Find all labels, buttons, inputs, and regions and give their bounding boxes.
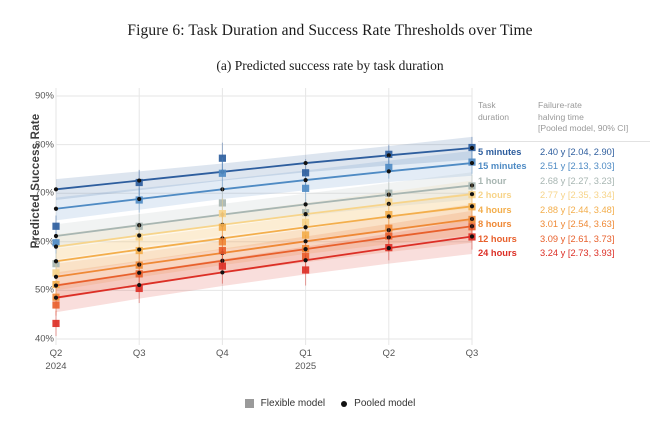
legend-series-name: 8 hours xyxy=(478,220,540,229)
flexible-model-marker xyxy=(302,266,309,273)
legend-series-name: 5 minutes xyxy=(478,148,540,157)
pooled-model-marker xyxy=(54,296,58,300)
figure-container: Figure 6: Task Duration and Success Rate… xyxy=(0,0,660,422)
legend-series-name: 24 hours xyxy=(478,249,540,258)
legend-halving-time: 2.40 y [2.04, 2.90] xyxy=(540,148,658,157)
legend-rows: 5 minutes2.40 y [2.04, 2.90]15 minutes2.… xyxy=(478,148,658,259)
pooled-model-marker xyxy=(54,283,58,287)
pooled-model-marker xyxy=(304,212,308,216)
legend-series-name: 12 hours xyxy=(478,235,540,244)
pooled-model-marker xyxy=(220,270,224,274)
circle-marker-icon xyxy=(341,401,347,407)
pooled-model-marker xyxy=(137,178,141,182)
legend-series-name: 4 hours xyxy=(478,206,540,215)
pooled-model-marker xyxy=(54,207,58,211)
flexible-model-marker xyxy=(219,170,226,177)
flexible-model-marker xyxy=(52,320,59,327)
series-legend-panel: Task duration Failure-rate halving time … xyxy=(478,100,658,264)
flexible-model-marker xyxy=(52,223,59,230)
pooled-model-marker xyxy=(137,247,141,251)
pooled-model-marker xyxy=(304,247,308,251)
pooled-model-marker xyxy=(304,225,308,229)
legend-header-halving-time: Failure-rate halving time [Pooled model,… xyxy=(538,100,658,135)
pooled-model-marker xyxy=(54,259,58,263)
legend-halving-time: 2.51 y [2.13, 3.03] xyxy=(540,162,658,171)
legend-row-1-hour[interactable]: 1 hour2.68 y [2.27, 3.23] xyxy=(478,177,658,186)
pooled-model-marker xyxy=(137,233,141,237)
legend-halving-time: 2.77 y [2.35, 3.34] xyxy=(540,191,658,200)
legend-halving-time: 2.88 y [2.44, 3.48] xyxy=(540,206,658,215)
legend-header: Task duration Failure-rate halving time … xyxy=(478,100,658,135)
pooled-model-marker xyxy=(387,246,391,250)
legend-halving-time: 3.09 y [2.61, 3.73] xyxy=(540,235,658,244)
legend-halving-time: 3.24 y [2.73, 3.93] xyxy=(540,249,658,258)
legend-row-5-minutes[interactable]: 5 minutes2.40 y [2.04, 2.90] xyxy=(478,148,658,157)
legend-item-pooled-model: Pooled model xyxy=(341,398,415,409)
pooled-model-marker xyxy=(470,161,474,165)
pooled-model-marker xyxy=(470,146,474,150)
flexible-model-marker xyxy=(219,263,226,270)
legend-row-2-hours[interactable]: 2 hours2.77 y [2.35, 3.34] xyxy=(478,191,658,200)
legend-header-task-duration: Task duration xyxy=(478,100,538,135)
legend-series-name: 15 minutes xyxy=(478,162,540,171)
flexible-model-marker xyxy=(52,301,59,308)
pooled-model-marker xyxy=(137,283,141,287)
legend-divider xyxy=(478,141,650,142)
square-marker-icon xyxy=(245,399,254,408)
pooled-model-marker xyxy=(304,202,308,206)
legend-item-flexible-model: Flexible model xyxy=(245,398,325,409)
legend-halving-time: 2.68 y [2.27, 3.23] xyxy=(540,177,658,186)
pooled-model-marker xyxy=(470,204,474,208)
pooled-model-marker xyxy=(304,178,308,182)
pooled-model-marker xyxy=(470,234,474,238)
legend-label-pooled-model: Pooled model xyxy=(354,398,415,409)
legend-row-8-hours[interactable]: 8 hours3.01 y [2.54, 3.63] xyxy=(478,220,658,229)
legend-series-name: 2 hours xyxy=(478,191,540,200)
legend-halving-time: 3.01 y [2.54, 3.63] xyxy=(540,220,658,229)
pooled-model-marker xyxy=(387,169,391,173)
pooled-model-marker xyxy=(54,187,58,191)
legend-row-24-hours[interactable]: 24 hours3.24 y [2.73, 3.93] xyxy=(478,249,658,258)
pooled-model-marker xyxy=(304,161,308,165)
legend-series-name: 1 hour xyxy=(478,177,540,186)
legend-label-flexible-model: Flexible model xyxy=(261,398,325,409)
model-type-legend: Flexible model Pooled model xyxy=(0,398,660,409)
pooled-model-marker xyxy=(54,234,58,238)
pooled-model-marker xyxy=(137,197,141,201)
pooled-model-marker xyxy=(304,258,308,262)
legend-row-4-hours[interactable]: 4 hours2.88 y [2.44, 3.48] xyxy=(478,206,658,215)
legend-row-15-minutes[interactable]: 15 minutes2.51 y [2.13, 3.03] xyxy=(478,162,658,171)
pooled-model-marker xyxy=(54,275,58,279)
flexible-model-marker xyxy=(302,185,309,192)
legend-row-12-hours[interactable]: 12 hours3.09 y [2.61, 3.73] xyxy=(478,235,658,244)
pooled-model-marker xyxy=(54,245,58,249)
